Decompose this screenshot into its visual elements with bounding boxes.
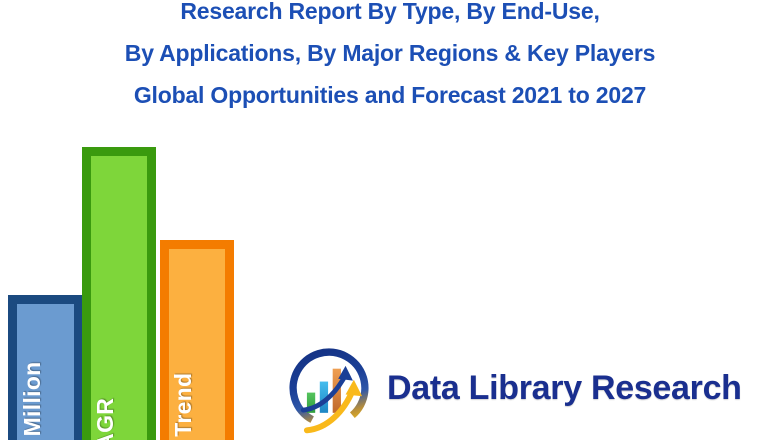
bar-market-trend: Market Trend <box>160 240 234 440</box>
bar-market-trend-label: Market Trend <box>170 373 197 440</box>
bar-market-trend-label-wrap: Market Trend <box>169 270 225 440</box>
headline-line-2: By Applications, By Major Regions & Key … <box>0 32 780 74</box>
logo: Data Library Research <box>283 338 743 438</box>
bar-market-trend-fill: Market Trend <box>169 249 225 440</box>
bar-cagr-fill: % CAGR <box>91 156 147 440</box>
brand-name: Data Library Research <box>387 369 742 408</box>
report-banner: Research Report By Type, By End-Use, By … <box>0 0 780 440</box>
bar-usd-million-label: USD XX Million <box>19 361 46 440</box>
bar-usd-million: USD XX Million <box>8 295 83 440</box>
bar-chart: USD XX Million % CAGR Market Trend <box>0 140 250 440</box>
headline-line-3: Global Opportunities and Forecast 2021 t… <box>0 74 780 116</box>
headline-line-1: Research Report By Type, By End-Use, <box>0 0 780 32</box>
circular-growth-chart-icon <box>283 342 375 434</box>
bar-cagr-label: % CAGR <box>92 398 119 440</box>
bar-cagr: % CAGR <box>82 147 156 440</box>
bar-cagr-label-wrap: % CAGR <box>91 270 147 440</box>
headline-block: Research Report By Type, By End-Use, By … <box>0 0 780 116</box>
bar-usd-million-label-wrap: USD XX Million <box>17 295 74 440</box>
bar-usd-million-fill: USD XX Million <box>17 304 74 440</box>
